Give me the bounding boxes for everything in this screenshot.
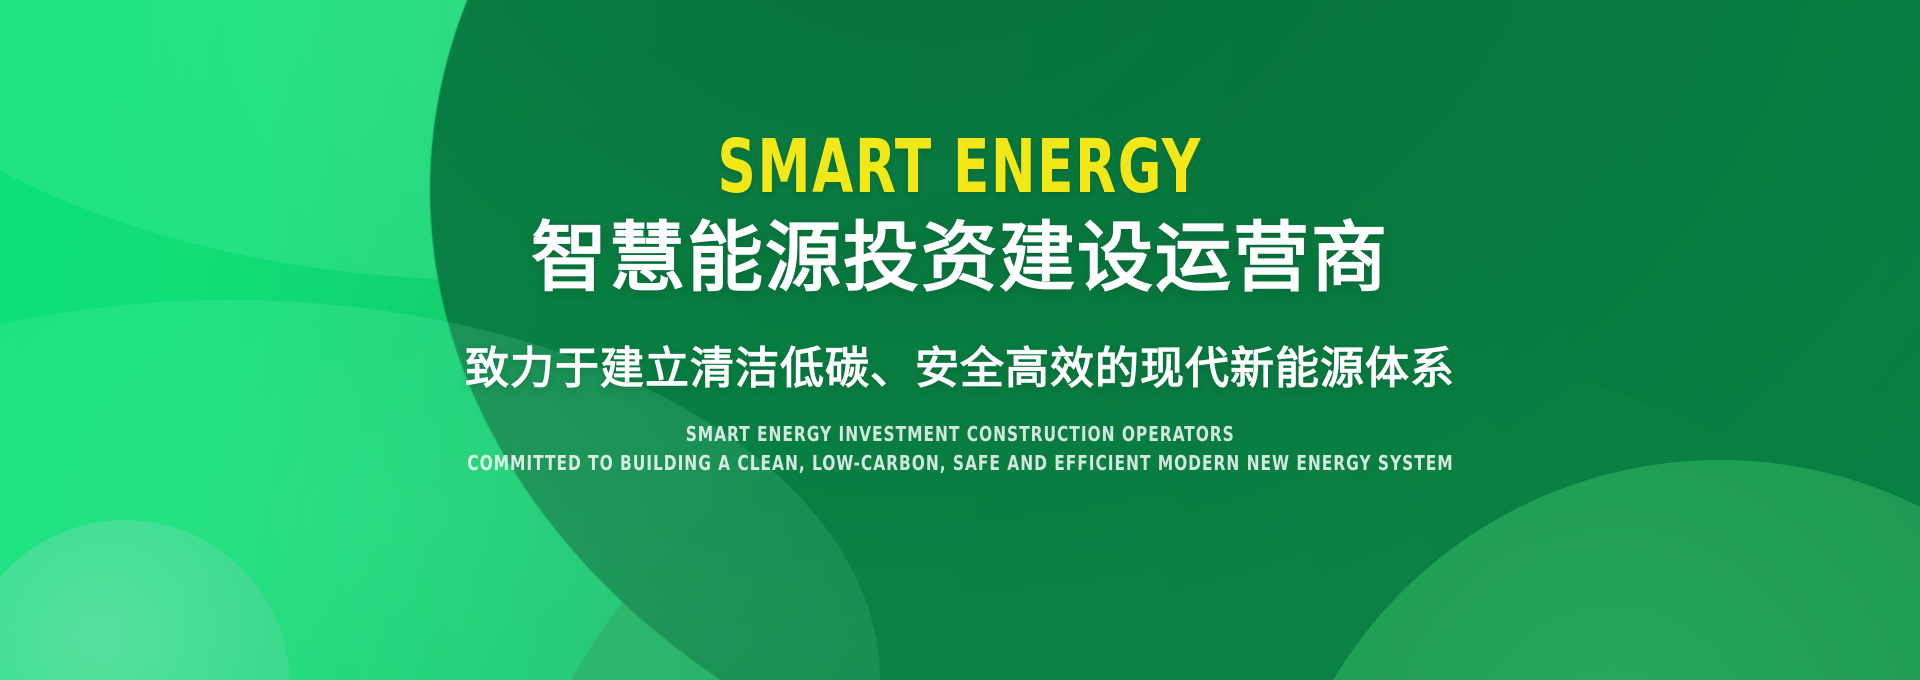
hero-subheadline-chinese: 致力于建立清洁低碳、安全高效的现代新能源体系	[465, 345, 1455, 393]
hero-headline-english: SMART ENERGY	[718, 130, 1202, 204]
hero-headline-chinese: 智慧能源投资建设运营商	[531, 218, 1389, 299]
hero-banner: SMART ENERGY 智慧能源投资建设运营商 致力于建立清洁低碳、安全高效的…	[0, 0, 1920, 680]
hero-caption-english-line-1: SMART ENERGY INVESTMENT CONSTRUCTION OPE…	[685, 421, 1234, 448]
hero-content: SMART ENERGY 智慧能源投资建设运营商 致力于建立清洁低碳、安全高效的…	[0, 0, 1920, 680]
hero-caption-english-line-2: COMMITTED TO BUILDING A CLEAN, LOW-CARBO…	[467, 450, 1453, 477]
